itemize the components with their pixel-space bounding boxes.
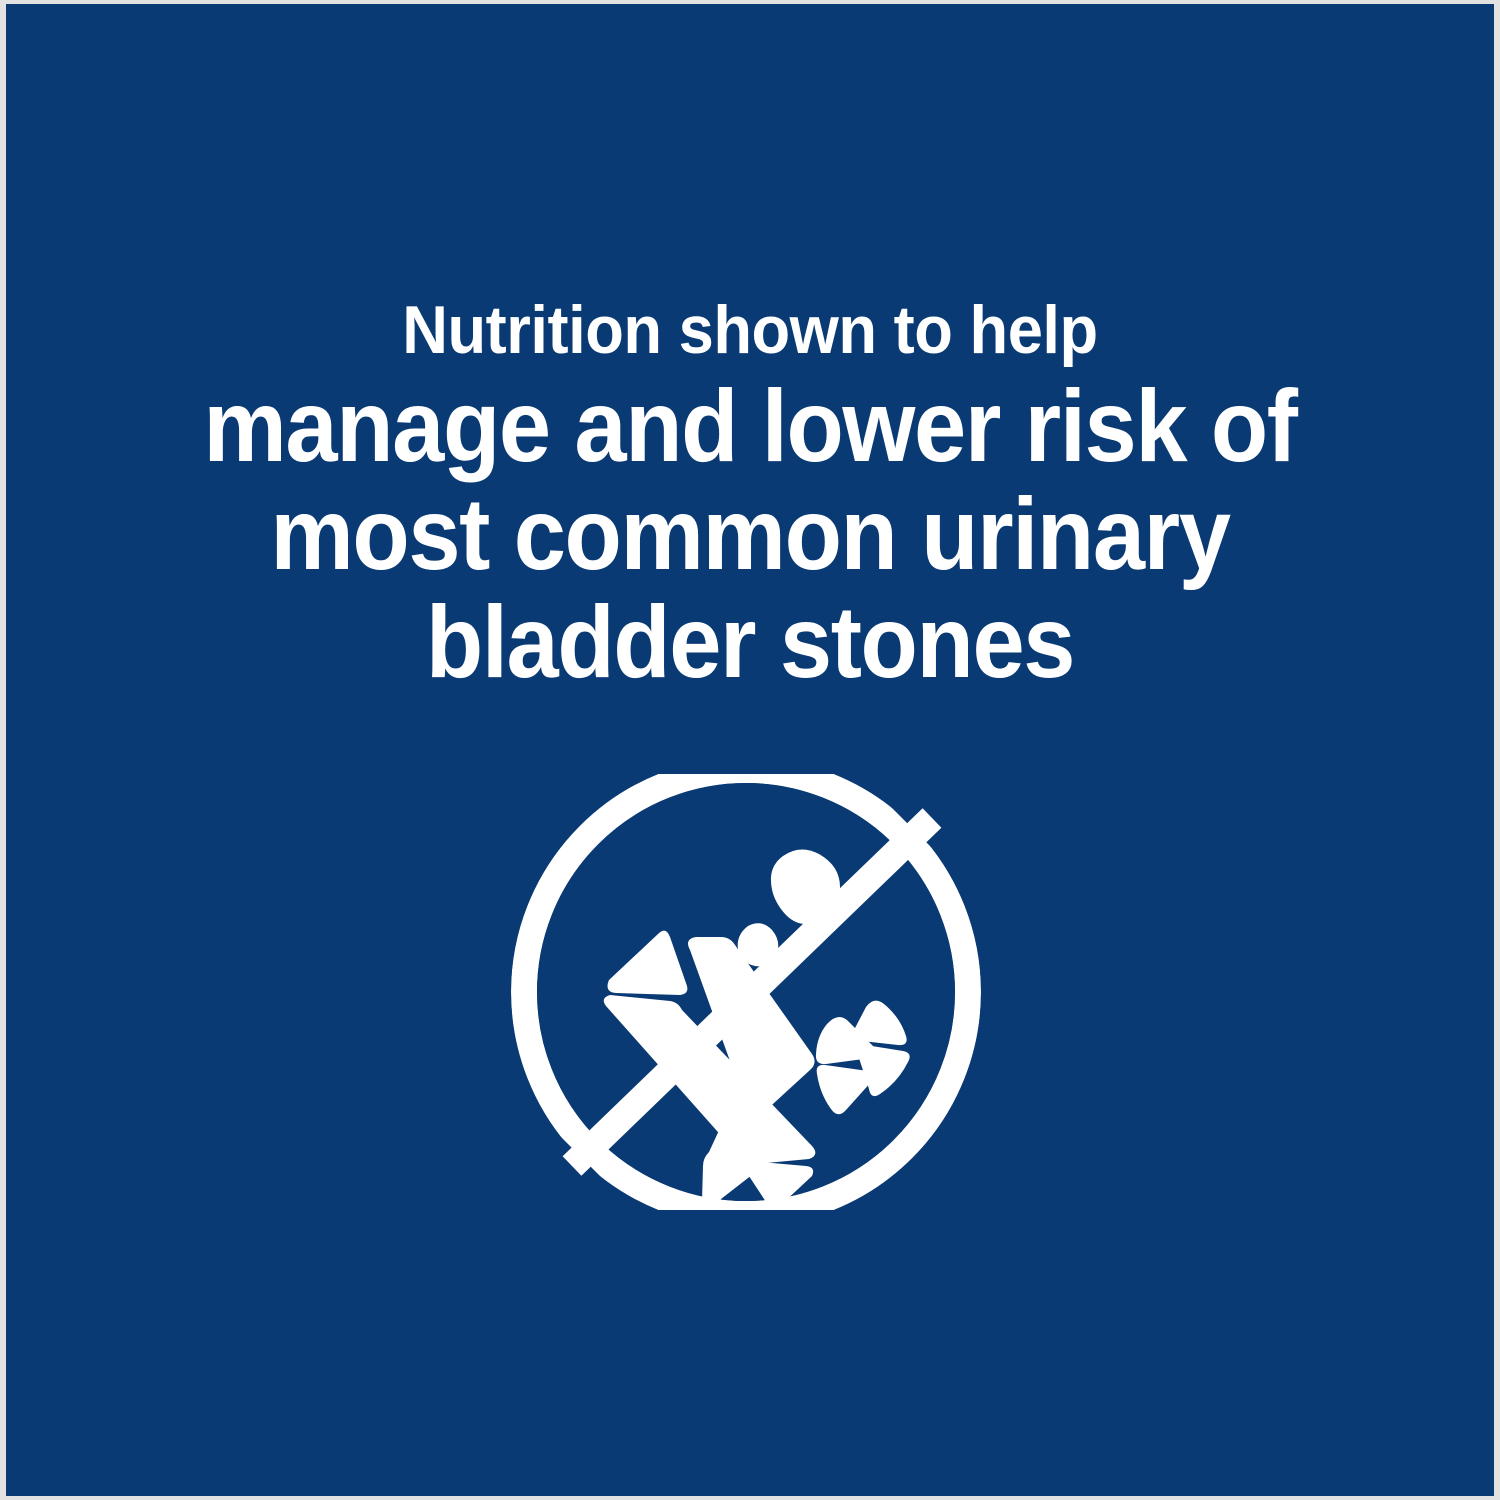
headline-eyebrow: Nutrition shown to help bbox=[58, 288, 1442, 372]
rounded-stone bbox=[771, 849, 840, 924]
headline-line-2: most common urinary bbox=[66, 480, 1435, 588]
headline-line-3: bladder stones bbox=[66, 588, 1435, 696]
no-bladder-stones-icon bbox=[494, 774, 998, 1210]
headline-block: Nutrition shown to help manage and lower… bbox=[6, 288, 1494, 696]
panel-content: Nutrition shown to help manage and lower… bbox=[6, 4, 1494, 1496]
screenshot-canvas: Nutrition shown to help manage and lower… bbox=[0, 0, 1500, 1500]
navy-panel: Nutrition shown to help manage and lower… bbox=[6, 4, 1494, 1496]
small-pebble bbox=[738, 923, 779, 966]
headline-line-1: manage and lower risk of bbox=[66, 372, 1435, 480]
no-bladder-stones-svg bbox=[494, 774, 998, 1210]
four-petal-oxalate-cluster bbox=[816, 1001, 910, 1115]
